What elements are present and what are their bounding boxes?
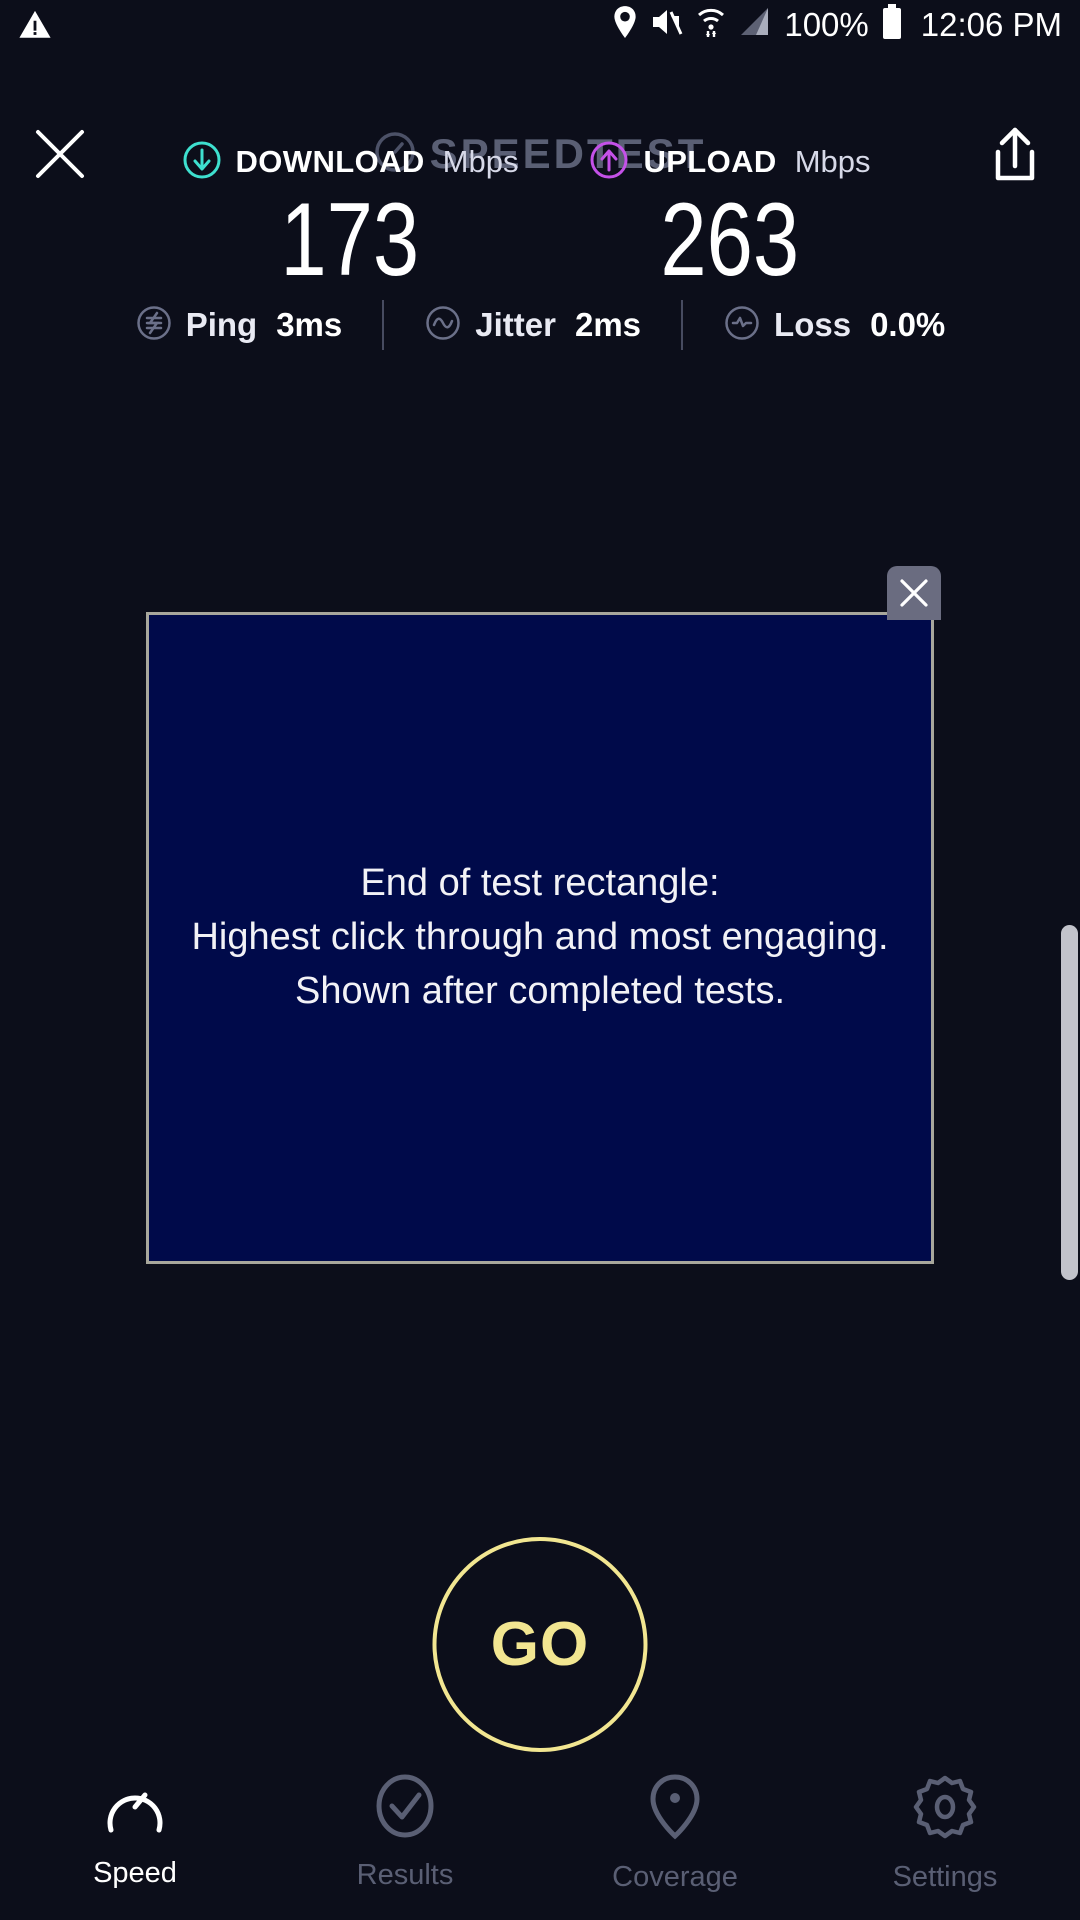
upload-result: UPLOAD Mbps 263 bbox=[540, 140, 920, 292]
warning-triangle-icon bbox=[18, 8, 52, 47]
download-label: DOWNLOAD bbox=[236, 144, 425, 180]
speed-results: DOWNLOAD Mbps 173 UPLOAD Mbps bbox=[0, 140, 1080, 292]
download-arrow-circle-icon bbox=[182, 140, 222, 185]
upload-unit: Mbps bbox=[795, 144, 871, 180]
app-header: SPEEDTEST bbox=[0, 58, 1080, 138]
ad-close-icon[interactable] bbox=[887, 566, 941, 620]
speedtest-app-screen: 100% 12:06 PM SPEEDTEST bbox=[0, 0, 1080, 1920]
bottom-navigation: Speed Results Coverage bbox=[0, 1760, 1080, 1920]
nav-label-results: Results bbox=[357, 1859, 454, 1892]
upload-arrow-circle-icon bbox=[589, 140, 629, 185]
wifi-icon bbox=[696, 5, 726, 44]
metric-divider-1 bbox=[382, 300, 384, 350]
location-pin-icon bbox=[648, 1774, 702, 1845]
loss-icon bbox=[723, 304, 761, 347]
advertisement-banner[interactable]: End of test rectangle: Highest click thr… bbox=[146, 612, 934, 1264]
go-button[interactable]: GO bbox=[433, 1537, 648, 1752]
nav-item-coverage[interactable]: Coverage bbox=[540, 1774, 810, 1894]
metric-loss: Loss 0.0% bbox=[723, 304, 945, 347]
page-scrollbar[interactable] bbox=[1061, 925, 1078, 1280]
status-bar: 100% 12:06 PM bbox=[0, 0, 1080, 52]
metric-divider-2 bbox=[681, 300, 683, 350]
status-bar-icons: 100% 12:06 PM bbox=[612, 4, 1062, 45]
battery-percent-label: 100% bbox=[784, 6, 868, 44]
cellular-signal-icon bbox=[738, 6, 772, 43]
upload-value: 263 bbox=[661, 188, 800, 292]
jitter-label: Jitter bbox=[475, 306, 556, 344]
download-unit: Mbps bbox=[443, 144, 519, 180]
ping-value: 3ms bbox=[276, 306, 342, 344]
loss-label: Loss bbox=[774, 306, 851, 344]
gear-icon bbox=[912, 1774, 978, 1845]
location-pin-icon bbox=[612, 5, 638, 44]
upload-label: UPLOAD bbox=[643, 144, 776, 180]
check-circle-icon bbox=[373, 1774, 437, 1843]
battery-full-icon bbox=[881, 4, 903, 45]
ping-label: Ping bbox=[186, 306, 258, 344]
ad-line-1: End of test rectangle: bbox=[191, 857, 888, 911]
nav-item-results[interactable]: Results bbox=[270, 1774, 540, 1892]
ad-line-3: Shown after completed tests. bbox=[191, 965, 888, 1019]
nav-label-coverage: Coverage bbox=[612, 1861, 738, 1894]
metric-jitter: Jitter 2ms bbox=[424, 304, 641, 347]
download-result: DOWNLOAD Mbps 173 bbox=[160, 140, 540, 292]
download-value: 173 bbox=[281, 188, 420, 292]
speedometer-icon bbox=[102, 1774, 168, 1841]
jitter-icon bbox=[424, 304, 462, 347]
nav-item-speed[interactable]: Speed bbox=[0, 1774, 270, 1890]
go-button-label: GO bbox=[491, 1609, 589, 1680]
ad-text-block: End of test rectangle: Highest click thr… bbox=[191, 857, 888, 1019]
metric-ping: Ping 3ms bbox=[135, 304, 343, 347]
network-metrics-row: Ping 3ms Jitter 2ms Loss 0.0 bbox=[0, 300, 1080, 350]
loss-value: 0.0% bbox=[870, 306, 945, 344]
ad-line-2: Highest click through and most engaging. bbox=[191, 911, 888, 965]
nav-item-settings[interactable]: Settings bbox=[810, 1774, 1080, 1894]
jitter-value: 2ms bbox=[575, 306, 641, 344]
nav-label-settings: Settings bbox=[893, 1861, 998, 1894]
status-bar-clock: 12:06 PM bbox=[921, 6, 1062, 44]
nav-label-speed: Speed bbox=[93, 1857, 177, 1890]
volume-muted-icon bbox=[650, 6, 684, 43]
ping-icon bbox=[135, 304, 173, 347]
